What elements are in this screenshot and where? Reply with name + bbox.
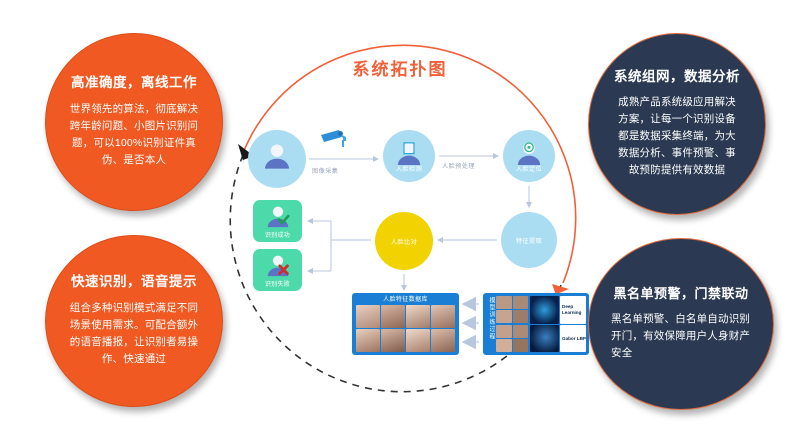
mini-face-thumbnail xyxy=(513,296,529,309)
node-face-compare-label: 人脸比对 xyxy=(391,237,417,246)
feature-bubble-top-right-title: 系统组网，数据分析 xyxy=(614,69,740,85)
mini-face-thumbnail xyxy=(496,296,512,309)
model-caption-deep-learning: Deep Learning xyxy=(560,296,586,324)
mini-face-grid xyxy=(496,296,528,352)
feature-bubble-bottom-left-title: 快速识别，语音提示 xyxy=(71,274,197,290)
feature-bubble-top-left-title: 高准确度，离线工作 xyxy=(71,75,197,91)
face-thumbnail xyxy=(356,329,380,352)
feature-bubble-top-right[interactable]: 系统组网，数据分析 成熟产品系统级应用解决方案，让每一个识别设备都是数据采集终端… xyxy=(588,33,766,215)
face-thumbnail xyxy=(381,305,405,328)
feature-bubble-bottom-left[interactable]: 快速识别，语音提示 组合多种识别模式满足不同场景使用需求。可配合额外的语音播报，… xyxy=(45,235,223,407)
feature-bubble-bottom-right[interactable]: 黑名单预警，门禁联动 黑名单预警、白名单自动识别开门，有效保障用户人身财产安全 xyxy=(588,238,774,410)
mini-face-thumbnail xyxy=(513,339,529,352)
person-face-locate-icon xyxy=(516,140,542,166)
face-thumbnail xyxy=(381,329,405,352)
feature-bubble-top-left[interactable]: 高准确度，离线工作 世界领先的算法，彻底解决跨年龄问题、小图片识别问题，可以10… xyxy=(45,33,223,211)
neural-network-image xyxy=(530,296,559,324)
edge-label-image-capture: 图像采集 xyxy=(312,166,338,175)
node-feature-extraction[interactable]: 特征提取 xyxy=(501,212,557,268)
card-recognition-success-label: 识别成功 xyxy=(265,230,290,242)
model-caption-gabor-lbp: Gabor LBP xyxy=(560,325,586,353)
mini-face-thumbnail xyxy=(496,325,512,338)
face-thumbnail xyxy=(406,305,430,328)
head-profile-image xyxy=(530,325,559,353)
node-face-detect[interactable]: 人脸检测 xyxy=(383,130,435,182)
panel-face-database-title: 人脸特征数据库 xyxy=(354,295,457,305)
node-face-compare[interactable]: 人脸比对 xyxy=(375,212,433,270)
card-recognition-failure[interactable]: 识别失败 xyxy=(253,249,302,291)
panel-face-database[interactable]: 人脸特征数据库 xyxy=(352,293,459,355)
panel-model-training-title: 模型训练过程 xyxy=(486,296,496,352)
mini-face-thumbnail xyxy=(513,325,529,338)
face-thumbnail xyxy=(356,305,380,328)
model-illustration-row: Gabor LBP xyxy=(530,325,586,353)
face-thumbnail-grid xyxy=(354,305,457,354)
feature-bubble-bottom-right-title: 黑名单预警，门禁联动 xyxy=(613,286,748,302)
panel-model-training[interactable]: 模型训练过程 Deep Learning Gabor LBP xyxy=(483,293,589,355)
mini-face-thumbnail xyxy=(496,310,512,323)
face-thumbnail xyxy=(431,329,455,352)
node-face-locate[interactable]: 人脸定位 xyxy=(503,130,555,182)
edge-label-face-preprocess: 人脸预处理 xyxy=(442,161,475,170)
infographic-canvas: 系统拓扑图 xyxy=(0,0,800,437)
person-face-detect-icon xyxy=(396,140,422,166)
node-face-locate-label: 人脸定位 xyxy=(516,164,542,182)
face-thumbnail xyxy=(431,305,455,328)
mini-face-thumbnail xyxy=(513,310,529,323)
cctv-camera-icon xyxy=(319,128,349,150)
face-thumbnail xyxy=(406,329,430,352)
model-illustration-column: Deep Learning Gabor LBP xyxy=(530,296,586,352)
card-recognition-failure-label: 识别失败 xyxy=(265,279,290,291)
mini-face-thumbnail xyxy=(496,339,512,352)
node-feature-extraction-label: 特征提取 xyxy=(516,236,542,245)
node-user[interactable] xyxy=(248,130,306,188)
node-face-detect-label: 人脸检测 xyxy=(396,164,422,182)
feature-bubble-top-left-body: 世界领先的算法，彻底解决跨年龄问题、小图片识别问题，可以100%识别证件真伪、是… xyxy=(64,101,204,169)
feature-bubble-bottom-right-body: 黑名单预警、白名单自动识别开门，有效保障用户人身财产安全 xyxy=(607,311,755,362)
feature-bubble-bottom-left-body: 组合多种识别模式满足不同场景使用需求。可配合额外的语音播报，让识别者易操作、快速… xyxy=(64,300,204,368)
person-cross-icon xyxy=(266,253,290,277)
card-recognition-success[interactable]: 识别成功 xyxy=(253,200,302,242)
model-illustration-row: Deep Learning xyxy=(530,296,586,324)
person-avatar-icon xyxy=(263,142,291,170)
feature-bubble-top-right-body: 成熟产品系统级应用解决方案，让每一个识别设备都是数据采集终端，为大数据分析、事件… xyxy=(607,94,747,179)
system-topology-diagram: 系统拓扑图 xyxy=(235,40,565,390)
person-check-icon xyxy=(266,204,290,228)
